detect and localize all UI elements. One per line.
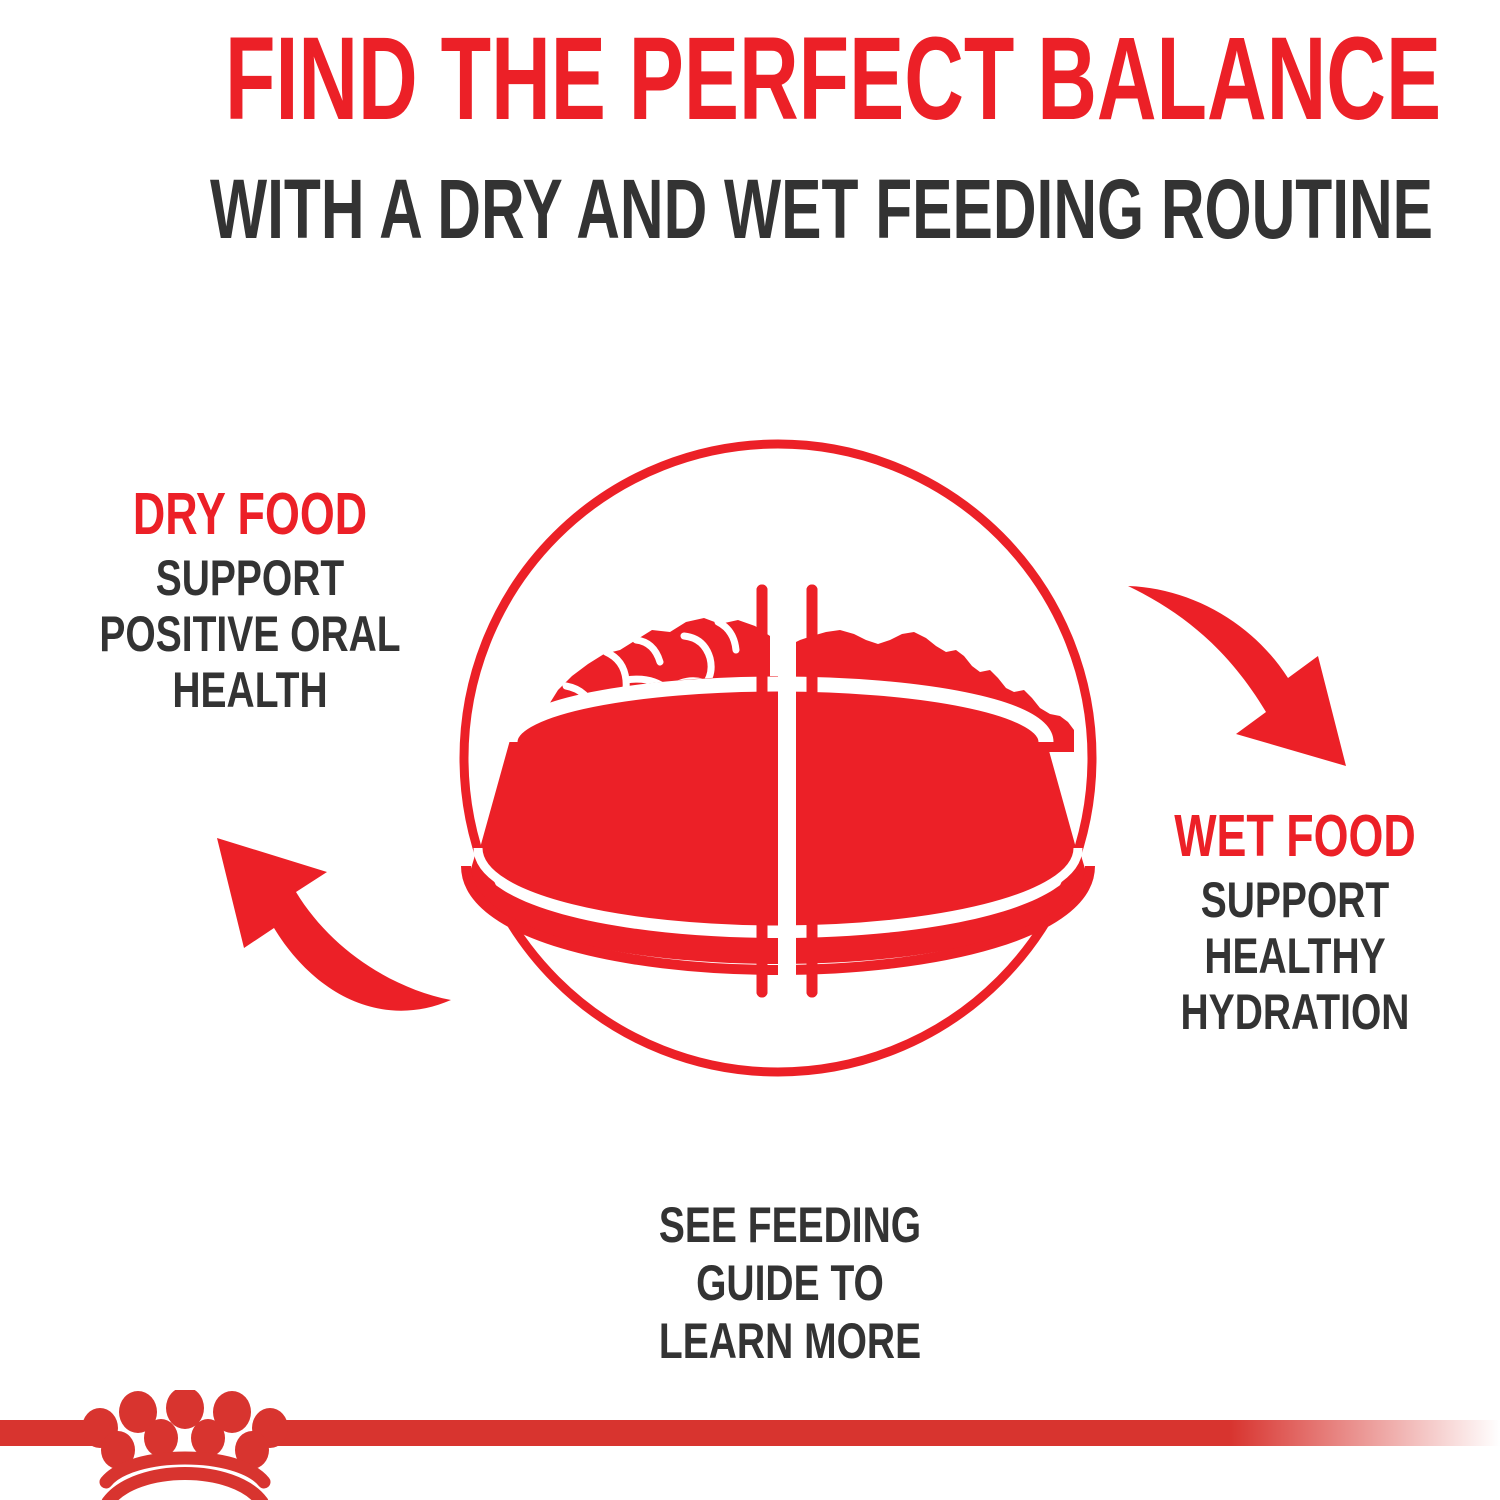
wet-food-body-line1: SUPPORT HEALTHY	[1135, 872, 1455, 984]
wet-food-block: WET FOOD SUPPORT HEALTHY HYDRATION	[1090, 806, 1500, 1040]
headline-primary: FIND THE PERFECT BALANCE	[225, 18, 1275, 141]
headline-secondary: WITH A DRY AND WET FEEDING ROUTINE	[210, 165, 1290, 254]
dry-food-body-line3: HEALTH	[82, 662, 417, 718]
bowl-body	[480, 676, 1076, 928]
bowl-inner-rim	[510, 684, 1046, 742]
caption-line3: LEARN MORE	[611, 1312, 970, 1370]
bowl-foot-outline	[466, 866, 1090, 970]
footer-rule-right	[272, 1420, 1500, 1446]
wet-food-mound	[790, 630, 1074, 752]
wet-food-body: SUPPORT HEALTHY HYDRATION	[1135, 872, 1455, 1040]
dry-food-body-line2: POSITIVE ORAL	[82, 606, 417, 662]
wet-food-body-line2: HYDRATION	[1135, 984, 1455, 1040]
dry-food-block: DRY FOOD SUPPORT POSITIVE ORAL HEALTH	[35, 484, 465, 718]
bowl-base-highlight	[478, 848, 1078, 930]
royal-canin-crown-paw-logo	[82, 1390, 288, 1500]
footer-brand-bar	[0, 1390, 1500, 1500]
caption-line1: SEE FEEDING	[611, 1196, 970, 1254]
circle-outline	[464, 444, 1092, 1072]
feeding-guide-caption: SEE FEEDING GUIDE TO LEARN MORE	[560, 1196, 1020, 1370]
kibble-mound	[536, 618, 770, 794]
bowl-base-band	[470, 852, 1086, 964]
dry-food-body-line1: SUPPORT	[82, 550, 417, 606]
dry-food-title: DRY FOOD	[87, 484, 414, 544]
caption-line2: GUIDE TO	[611, 1254, 970, 1312]
dry-food-body: SUPPORT POSITIVE ORAL HEALTH	[82, 550, 417, 718]
food-bowl-graphic	[466, 618, 1090, 970]
wet-food-title: WET FOOD	[1139, 806, 1451, 866]
curved-arrow-down-right-icon	[1128, 586, 1346, 766]
headline-block: FIND THE PERFECT BALANCE WITH A DRY AND …	[0, 18, 1500, 254]
poster-canvas: FIND THE PERFECT BALANCE WITH A DRY AND …	[0, 0, 1500, 1500]
curved-arrow-up-left-icon	[217, 838, 451, 1011]
